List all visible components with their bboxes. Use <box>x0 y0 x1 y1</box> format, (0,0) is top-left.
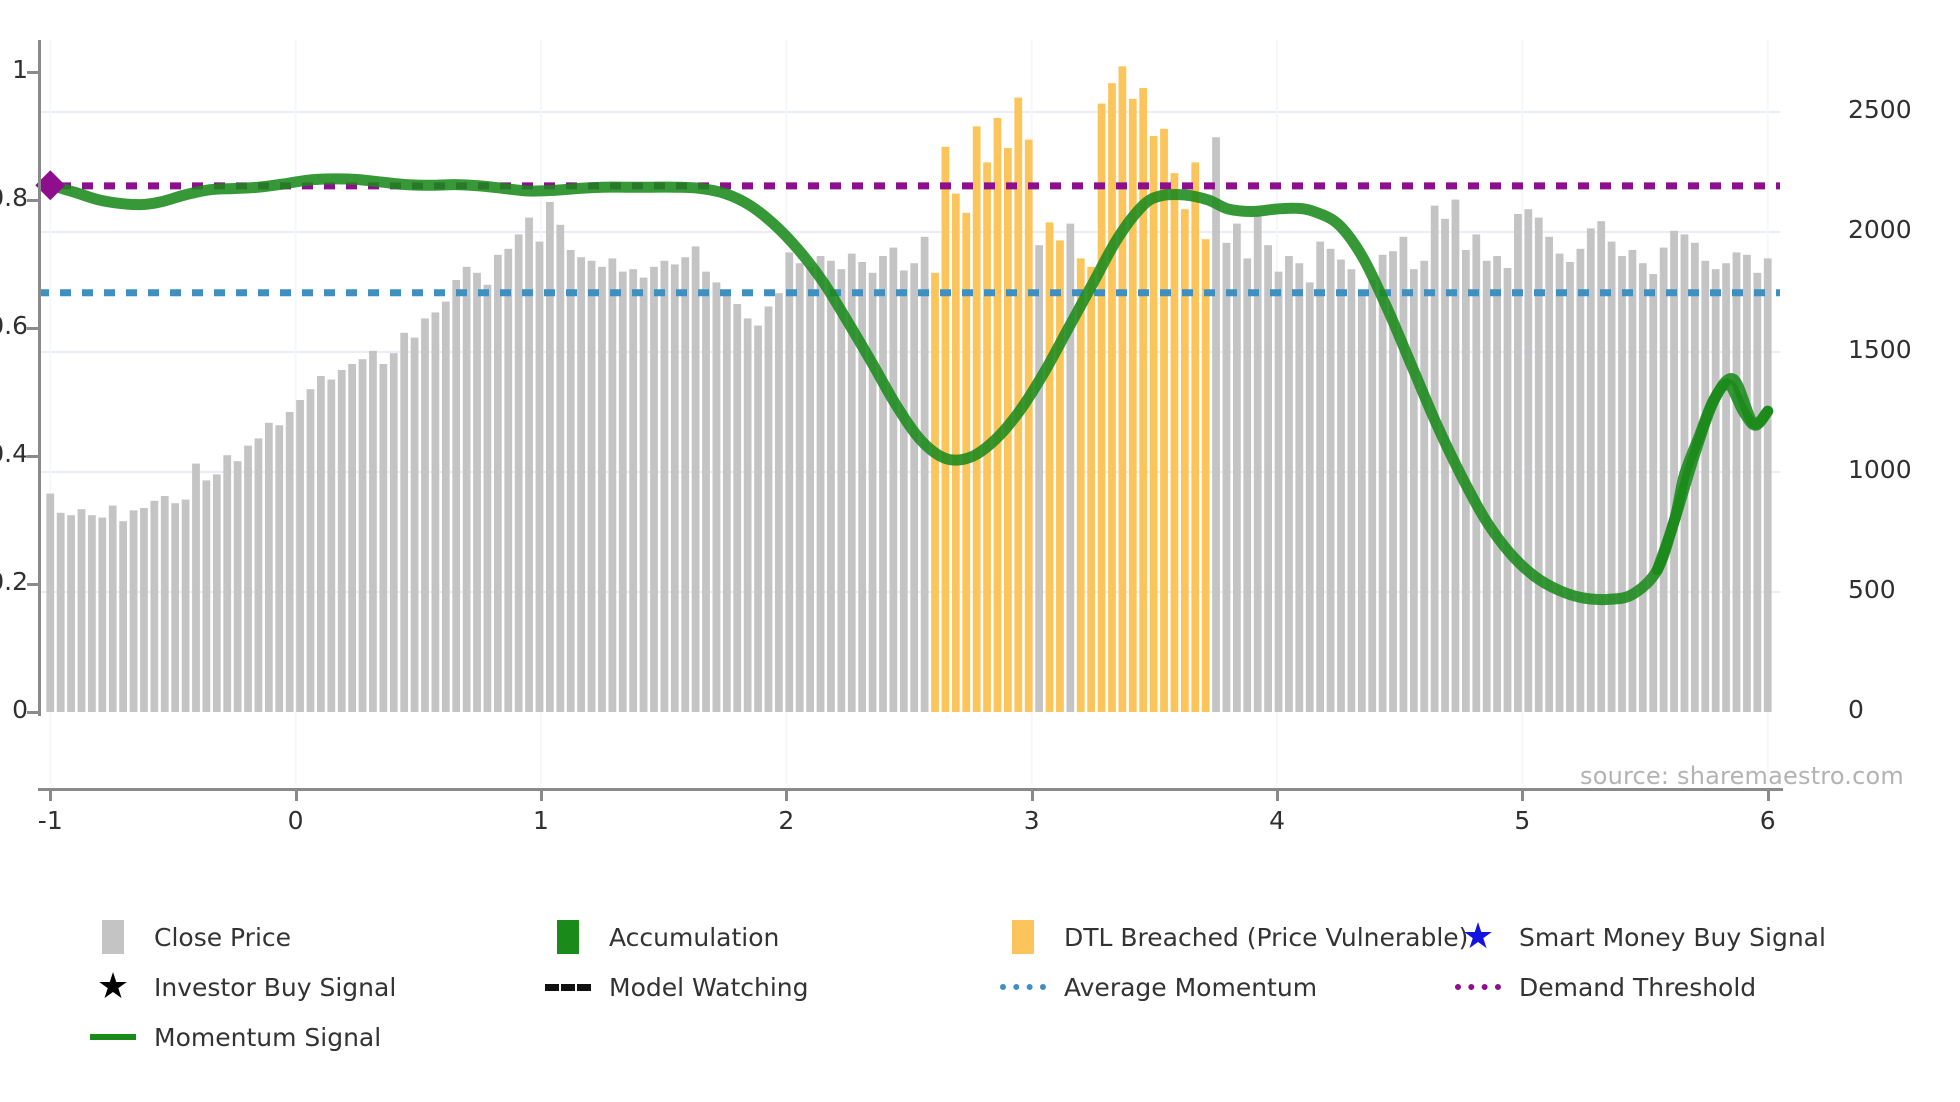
bar-dtl-breached <box>1056 240 1064 712</box>
bar-close-price <box>1514 214 1522 712</box>
bar-close-price <box>1701 261 1709 712</box>
bar-close-price <box>307 389 315 712</box>
bar-close-price <box>890 248 898 712</box>
bar-close-price <box>796 263 804 712</box>
bar-dtl-breached <box>1181 209 1189 712</box>
legend-label: Investor Buy Signal <box>154 973 396 1002</box>
y-axis-right-tick-label: 500 <box>1848 575 1896 604</box>
bar-dtl-breached <box>1025 140 1033 712</box>
bar-dtl-breached <box>1108 83 1116 712</box>
x-axis-tickmark <box>1767 788 1770 801</box>
bar-close-price <box>1504 268 1512 712</box>
bar-dtl-breached <box>1171 173 1179 712</box>
legend-label: Close Price <box>154 923 291 952</box>
bar-close-price <box>556 225 564 712</box>
bar-close-price <box>577 257 585 712</box>
bar-close-price <box>1712 269 1720 712</box>
legend-item-demand-threshold[interactable]: Demand Threshold <box>1455 970 1910 1004</box>
legend-item-dtl-breached[interactable]: DTL Breached (Price Vulnerable) <box>1000 920 1455 954</box>
bar-close-price <box>359 359 367 712</box>
bar-close-price <box>900 270 908 712</box>
bar-dtl-breached <box>931 273 939 712</box>
bar-close-price <box>1233 224 1241 712</box>
bar-close-price <box>1764 258 1772 712</box>
legend-item-investor-buy-signal[interactable]: ★Investor Buy Signal <box>90 970 545 1004</box>
bar-close-price <box>484 285 492 712</box>
bar-close-price <box>775 293 783 712</box>
y-axis-left-spine <box>38 40 41 716</box>
bar-close-price <box>619 272 627 712</box>
bar-close-price <box>98 518 106 712</box>
y-axis-left-tick-label: 0.4 <box>0 439 28 468</box>
bar-close-price <box>452 280 460 712</box>
bar-close-price <box>1733 252 1741 712</box>
bar-close-price <box>629 269 637 712</box>
bar-close-price <box>504 249 512 712</box>
bar-close-price <box>130 510 138 712</box>
bar-close-price <box>1556 254 1564 712</box>
chart-canvas: 00.20.40.60.81 05001000150020002500 -101… <box>0 0 1960 1102</box>
bar-close-price <box>234 461 242 712</box>
bar-close-price <box>702 272 710 712</box>
bar-close-price <box>921 237 929 712</box>
bar-close-price <box>1066 224 1074 712</box>
bar-close-price <box>858 262 866 712</box>
bar-close-price <box>650 267 658 712</box>
star-icon: ★ <box>1455 920 1501 954</box>
bar-close-price <box>1420 261 1428 712</box>
bar-dtl-breached <box>983 162 991 712</box>
solid-line-icon <box>90 1020 136 1054</box>
x-axis-tick-label: 1 <box>501 806 581 835</box>
legend-item-momentum-signal[interactable]: Momentum Signal <box>90 1020 545 1054</box>
bar-close-price <box>723 290 731 712</box>
y-axis-right-tick-label: 1000 <box>1848 455 1912 484</box>
legend-item-close-price[interactable]: Close Price <box>90 920 545 954</box>
bar-close-price <box>1670 231 1678 712</box>
bar-close-price <box>255 438 263 712</box>
bar-close-price <box>1431 206 1439 712</box>
bar-close-price <box>140 508 148 712</box>
star-icon: ★ <box>90 970 136 1004</box>
bar-close-price <box>473 273 481 712</box>
bar-close-price <box>327 380 335 712</box>
bar-close-price <box>536 242 544 712</box>
bar-close-price <box>671 264 679 712</box>
x-axis-tick-label: 3 <box>992 806 1072 835</box>
legend-item-average-momentum[interactable]: Average Momentum <box>1000 970 1455 1004</box>
bar-close-price <box>1576 249 1584 712</box>
bar-close-price <box>150 501 158 712</box>
bar-close-price <box>1722 263 1730 712</box>
bar-close-price <box>275 425 283 712</box>
bar-dtl-breached <box>1087 267 1095 712</box>
bar-close-price <box>338 370 346 712</box>
y-axis-left-tickmark <box>27 583 39 586</box>
source-note: source: sharemaestro.com <box>1580 762 1904 790</box>
bar-close-price <box>1337 260 1345 712</box>
bar-dtl-breached <box>1150 136 1158 712</box>
bar-close-price <box>640 278 648 712</box>
legend-label: Demand Threshold <box>1519 973 1756 1002</box>
bar-close-price <box>1275 272 1283 712</box>
bar-close-price <box>119 521 127 712</box>
bar-close-price <box>223 455 231 712</box>
bar-close-price <box>754 326 762 712</box>
dotted-line-icon <box>1000 970 1046 1004</box>
bar-close-price <box>608 258 616 712</box>
bar-close-price <box>463 267 471 712</box>
bar-close-price <box>348 364 356 712</box>
square-swatch-icon <box>1000 920 1046 954</box>
bar-close-price <box>109 506 117 712</box>
y-axis-right-tick-label: 1500 <box>1848 335 1912 364</box>
bar-close-price <box>1608 242 1616 712</box>
bar-close-price <box>1264 245 1272 712</box>
bar-close-price <box>1410 269 1418 712</box>
x-axis-tickmark <box>1276 788 1279 801</box>
y-axis-right-tick-label: 2500 <box>1848 95 1912 124</box>
bar-close-price <box>744 318 752 712</box>
bar-close-price <box>1285 256 1293 712</box>
bar-close-price <box>1524 209 1532 712</box>
dashed-line-icon <box>545 970 591 1004</box>
bar-dtl-breached <box>952 194 960 712</box>
bar-close-price <box>1316 242 1324 712</box>
x-axis-tick-label: 5 <box>1482 806 1562 835</box>
bar-dtl-breached <box>1139 88 1147 712</box>
y-axis-left-tick-label: 0.2 <box>0 567 28 596</box>
bar-close-price <box>817 256 825 712</box>
chart-svg <box>38 40 1780 712</box>
bar-close-price <box>390 353 398 712</box>
legend-label: Smart Money Buy Signal <box>1519 923 1826 952</box>
bar-close-price <box>379 364 387 712</box>
legend-row: Momentum Signal <box>90 1020 1920 1054</box>
bar-close-price <box>1660 248 1668 712</box>
bar-close-price <box>1566 262 1574 712</box>
bar-close-price <box>1493 256 1501 712</box>
bar-close-price <box>182 500 190 712</box>
bar-close-price <box>827 261 835 712</box>
bar-dtl-breached <box>1077 258 1085 712</box>
bar-close-price <box>765 306 773 712</box>
bar-close-price <box>369 351 377 712</box>
x-axis-tickmark <box>295 788 298 801</box>
y-axis-left-tick-label: 0 <box>12 695 28 724</box>
y-axis-left-tick-label: 0.8 <box>0 183 28 212</box>
y-axis-left-tick-label: 0.6 <box>0 311 28 340</box>
chart-legend: Close PriceAccumulationDTL Breached (Pri… <box>90 920 1920 1070</box>
bar-close-price <box>1368 280 1376 712</box>
bar-close-price <box>1483 261 1491 712</box>
legend-label: Accumulation <box>609 923 779 952</box>
bar-dtl-breached <box>1098 104 1106 712</box>
x-axis-tickmark <box>1521 788 1524 801</box>
y-axis-right-tick-label: 2000 <box>1848 215 1912 244</box>
bar-close-price <box>879 256 887 712</box>
legend-row: Close PriceAccumulationDTL Breached (Pri… <box>90 920 1920 954</box>
bar-close-price <box>1753 273 1761 712</box>
bar-close-price <box>161 496 169 712</box>
bar-close-price <box>1212 137 1220 712</box>
bar-close-price <box>1743 255 1751 712</box>
x-axis-tickmark <box>49 788 52 801</box>
bar-close-price <box>421 318 429 712</box>
bar-close-price <box>598 267 606 712</box>
bar-close-price <box>317 376 325 712</box>
bar-dtl-breached <box>1160 129 1168 712</box>
bar-series-close-price <box>46 66 1771 712</box>
bar-close-price <box>213 474 221 712</box>
square-swatch-icon <box>90 920 136 954</box>
bar-close-price <box>67 515 75 712</box>
dotted-line-icon <box>1455 970 1501 1004</box>
bar-dtl-breached <box>1202 239 1210 712</box>
bar-close-price <box>1472 234 1480 712</box>
bar-close-price <box>296 400 304 712</box>
bar-close-price <box>411 338 419 712</box>
x-axis-tick-label: 6 <box>1728 806 1808 835</box>
x-axis-tick-label: 4 <box>1237 806 1317 835</box>
bar-close-price <box>244 446 252 712</box>
bar-dtl-breached <box>973 126 981 712</box>
bar-close-price <box>785 252 793 712</box>
legend-label: Model Watching <box>609 973 809 1002</box>
bar-close-price <box>1295 263 1303 712</box>
bar-close-price <box>46 494 54 712</box>
bar-close-price <box>1358 291 1366 712</box>
y-axis-left-tickmark <box>27 71 39 74</box>
bar-close-price <box>494 255 502 712</box>
bar-close-price <box>400 333 408 712</box>
y-axis-left-tickmark <box>27 711 39 714</box>
bar-dtl-breached <box>994 118 1002 712</box>
bar-close-price <box>515 234 523 712</box>
bar-close-price <box>1545 237 1553 712</box>
legend-label: Average Momentum <box>1064 973 1317 1002</box>
legend-item-accumulation[interactable]: Accumulation <box>545 920 1000 954</box>
y-axis-left-tickmark <box>27 327 39 330</box>
bar-close-price <box>1035 245 1043 712</box>
bar-close-price <box>203 480 211 712</box>
bar-dtl-breached <box>1129 99 1137 712</box>
bar-close-price <box>733 304 741 712</box>
x-axis-tickmark <box>540 788 543 801</box>
legend-item-model-watching[interactable]: Model Watching <box>545 970 1000 1004</box>
legend-label: DTL Breached (Price Vulnerable) <box>1064 923 1468 952</box>
bar-close-price <box>1618 256 1626 712</box>
bar-close-price <box>171 503 179 712</box>
bar-close-price <box>57 513 65 712</box>
bar-close-price <box>192 464 200 712</box>
x-axis-tickmark <box>1031 788 1034 801</box>
y-axis-left-tickmark <box>27 199 39 202</box>
y-axis-left-tick-label: 1 <box>12 55 28 84</box>
bar-close-price <box>1629 250 1637 712</box>
bar-dtl-breached <box>1118 66 1126 712</box>
legend-row: ★Investor Buy SignalModel WatchingAverag… <box>90 970 1920 1004</box>
bar-close-price <box>713 282 721 712</box>
bar-close-price <box>78 509 86 712</box>
bar-close-price <box>681 257 689 712</box>
bar-close-price <box>432 312 440 712</box>
square-swatch-icon <box>545 920 591 954</box>
bar-close-price <box>567 250 575 712</box>
x-axis-tickmark <box>785 788 788 801</box>
bar-close-price <box>265 423 273 712</box>
bar-close-price <box>1306 282 1314 712</box>
bar-close-price <box>1347 269 1355 712</box>
bar-close-price <box>910 263 918 712</box>
bar-close-price <box>1400 237 1408 712</box>
bar-close-price <box>869 273 877 712</box>
bar-close-price <box>1649 274 1657 712</box>
y-axis-right-tick-label: 0 <box>1848 695 1864 724</box>
bar-close-price <box>1639 263 1647 712</box>
bar-close-price <box>286 412 294 712</box>
plot-area <box>38 40 1780 712</box>
x-axis-tick-label: 2 <box>746 806 826 835</box>
bar-close-price <box>837 269 845 712</box>
y-axis-left-tickmark <box>27 455 39 458</box>
legend-item-smart-money-buy-signal[interactable]: ★Smart Money Buy Signal <box>1455 920 1910 954</box>
bar-close-price <box>1243 258 1251 712</box>
bar-close-price <box>88 515 96 712</box>
bar-close-price <box>442 302 450 712</box>
bar-close-price <box>588 261 596 712</box>
bar-close-price <box>546 202 554 712</box>
bar-dtl-breached <box>1191 162 1199 712</box>
bar-close-price <box>1327 249 1335 712</box>
bar-close-price <box>692 246 700 712</box>
bar-close-price <box>1379 255 1387 712</box>
x-axis-tick-label: -1 <box>10 806 90 835</box>
legend-label: Momentum Signal <box>154 1023 381 1052</box>
bar-dtl-breached <box>942 147 950 712</box>
x-axis-tick-label: 0 <box>256 806 336 835</box>
bar-close-price <box>1587 228 1595 712</box>
bar-close-price <box>1223 243 1231 712</box>
bar-close-price <box>661 261 669 712</box>
bar-close-price <box>806 267 814 712</box>
